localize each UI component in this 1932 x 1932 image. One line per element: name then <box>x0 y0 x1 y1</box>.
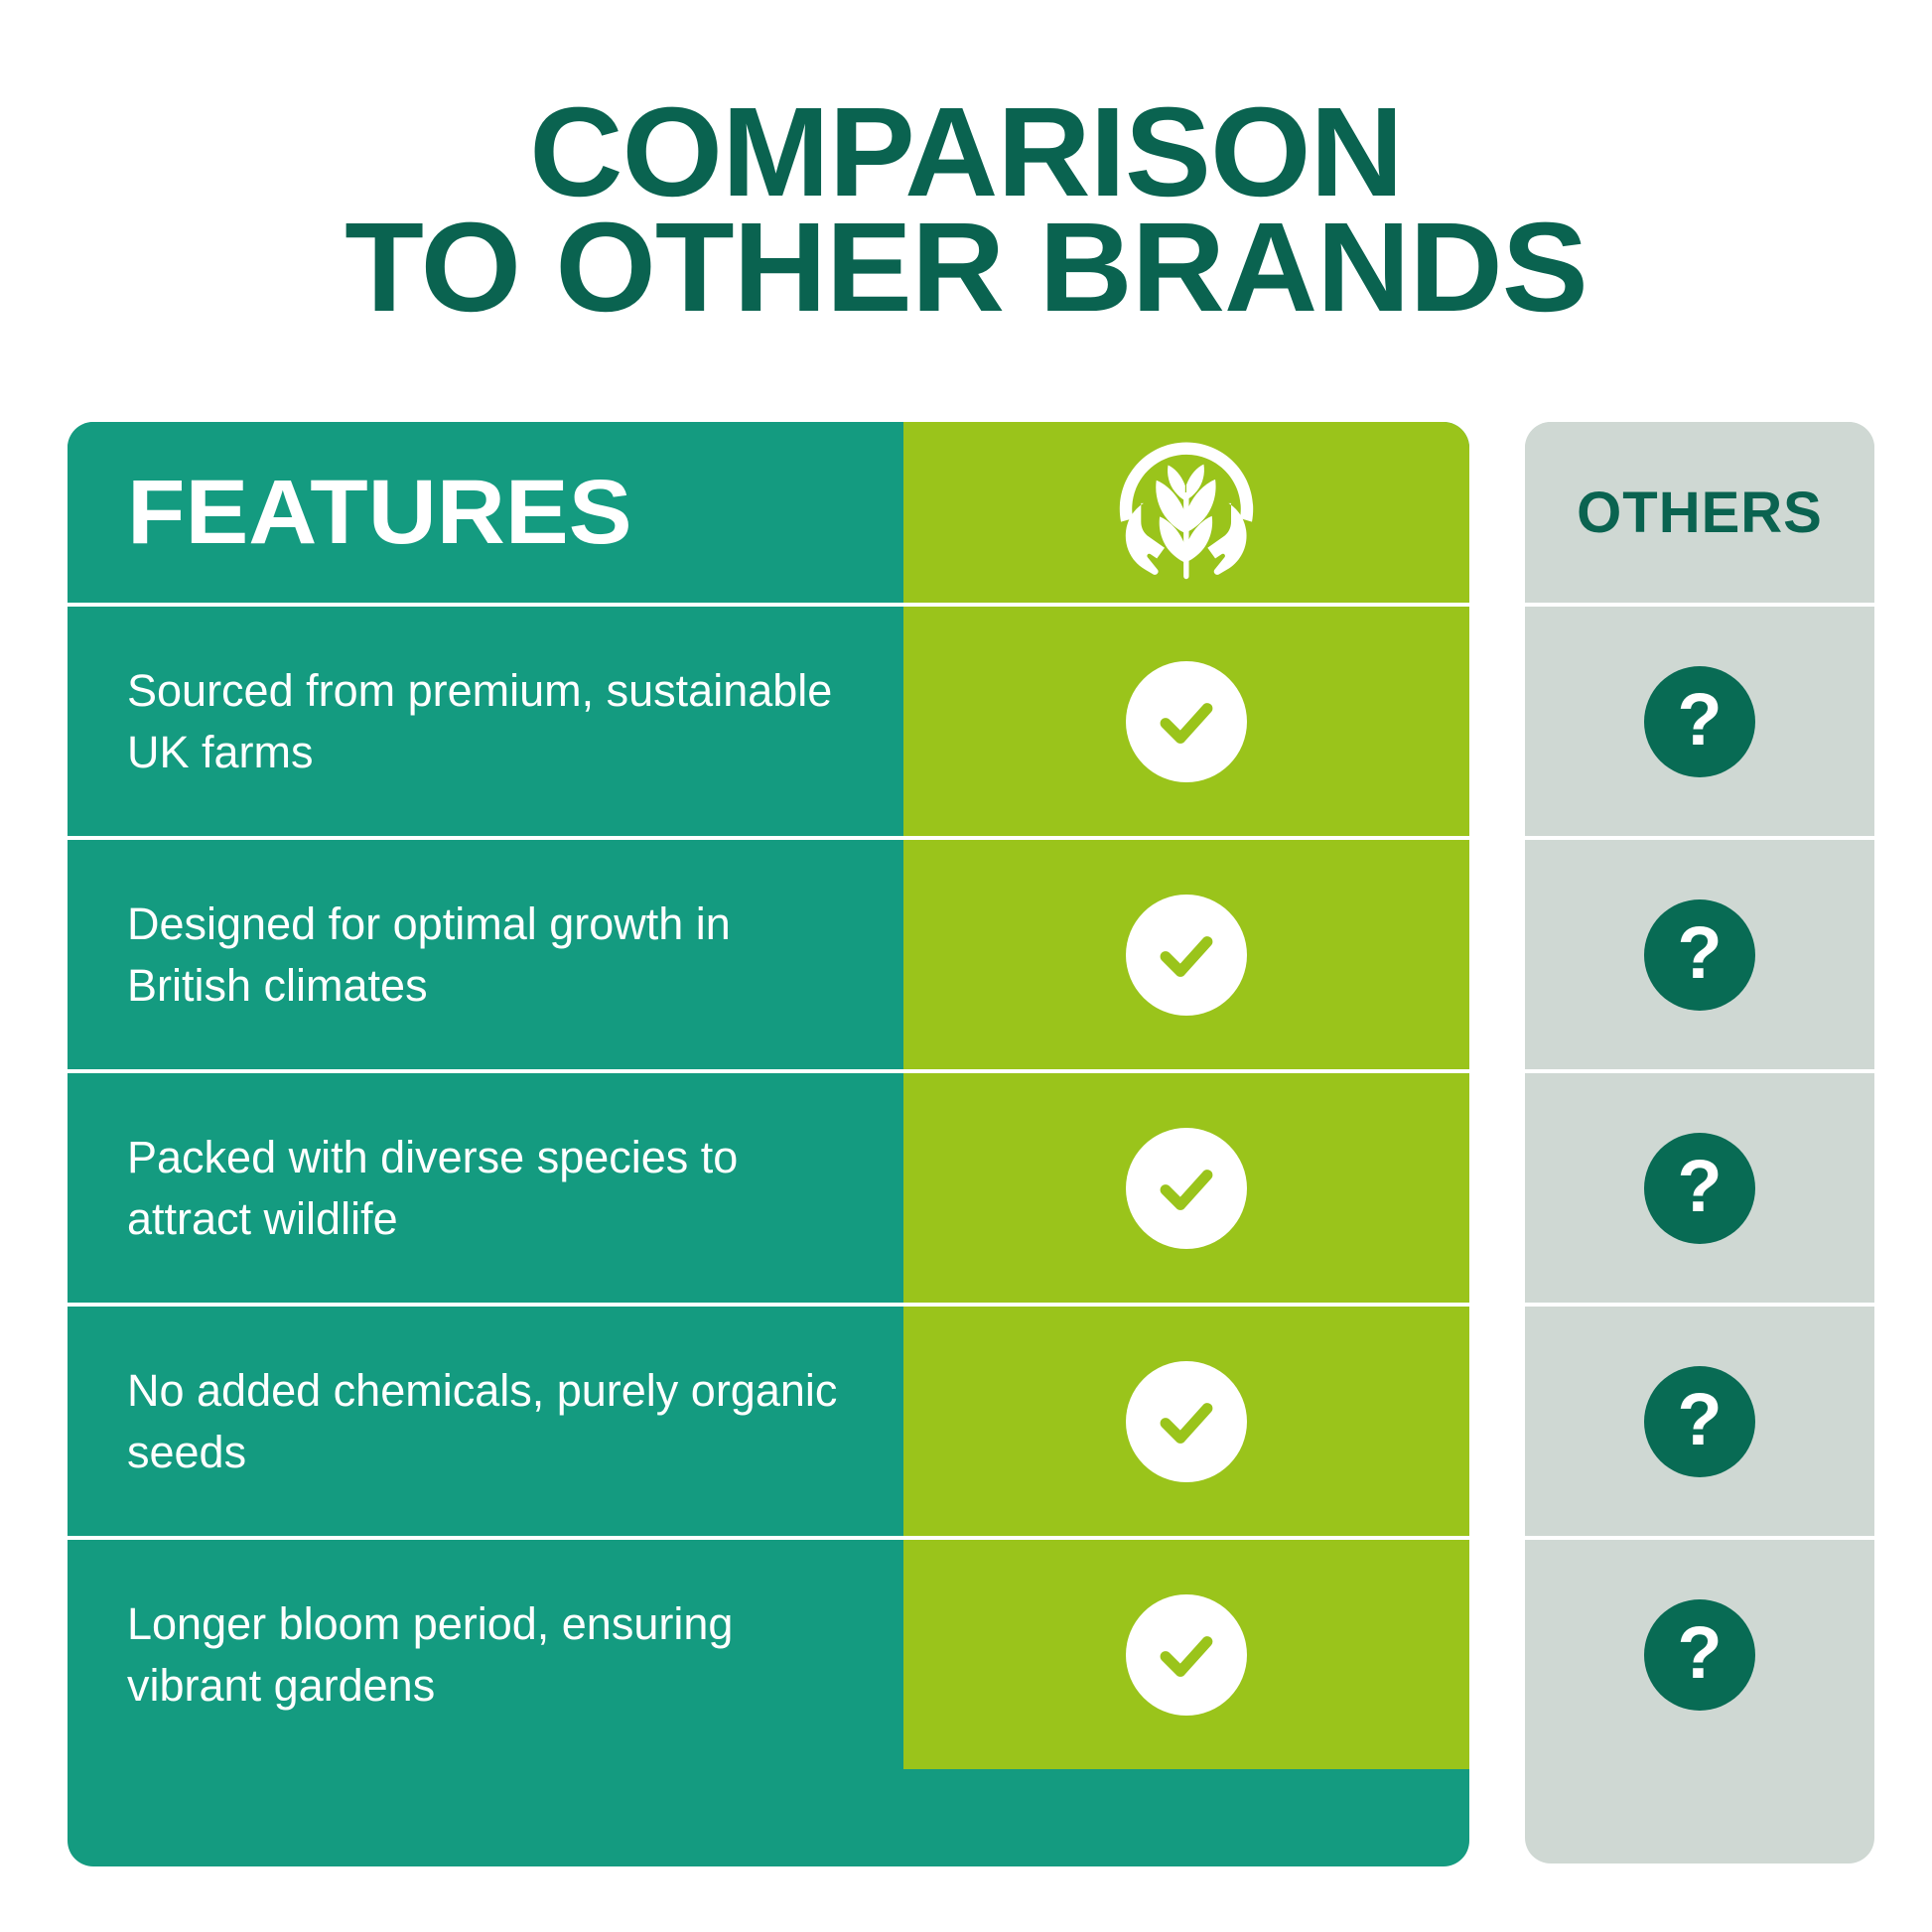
question-mark-glyph: ? <box>1677 1150 1722 1223</box>
check-icon <box>1126 895 1247 1016</box>
check-icon <box>1126 1128 1247 1249</box>
comparison-table: FEATURES Sourced fro <box>68 422 1469 1866</box>
check-glyph <box>1151 1619 1222 1691</box>
check-icon <box>1126 1361 1247 1482</box>
features-header-label: FEATURES <box>127 467 632 558</box>
table-row: Designed for optimal growth in British c… <box>68 836 1469 1069</box>
question-mark-icon: ? <box>1644 666 1755 777</box>
brand-header-cell <box>903 422 1469 603</box>
title-line-1: COMPARISON <box>0 95 1932 210</box>
question-mark-glyph: ? <box>1677 916 1722 990</box>
page-title: COMPARISON TO OTHER BRANDS <box>0 95 1932 326</box>
feature-cell: Packed with diverse species to attract w… <box>68 1073 903 1303</box>
others-header-label: OTHERS <box>1577 480 1823 546</box>
check-glyph <box>1151 686 1222 758</box>
feature-text: Packed with diverse species to attract w… <box>127 1127 844 1250</box>
question-mark-glyph: ? <box>1677 1616 1722 1690</box>
features-header-cell: FEATURES <box>68 422 903 603</box>
plant-in-hands-logo <box>1103 429 1270 596</box>
others-column: OTHERS ? ? ? ? ? <box>1525 422 1874 1863</box>
brand-cell <box>903 840 1469 1069</box>
feature-text: No added chemicals, purely organic seeds <box>127 1360 844 1483</box>
others-header-cell: OTHERS <box>1525 422 1874 603</box>
check-glyph <box>1151 919 1222 991</box>
brand-cell <box>903 1307 1469 1536</box>
table-header-row: FEATURES <box>68 422 1469 603</box>
check-icon <box>1126 661 1247 782</box>
feature-text: Sourced from premium, sustainable UK far… <box>127 660 844 783</box>
feature-cell: Designed for optimal growth in British c… <box>68 840 903 1069</box>
table-row: Packed with diverse species to attract w… <box>68 1069 1469 1303</box>
check-icon <box>1126 1594 1247 1716</box>
feature-text: Longer bloom period, ensuring vibrant ga… <box>127 1593 844 1717</box>
others-cell: ? <box>1525 603 1874 836</box>
feature-cell: No added chemicals, purely organic seeds <box>68 1307 903 1536</box>
infographic-canvas: COMPARISON TO OTHER BRANDS FEATURES <box>0 0 1932 1932</box>
check-glyph <box>1151 1153 1222 1224</box>
table-row: Sourced from premium, sustainable UK far… <box>68 603 1469 836</box>
question-mark-icon: ? <box>1644 1366 1755 1477</box>
brand-cell <box>903 1540 1469 1769</box>
question-mark-glyph: ? <box>1677 1383 1722 1456</box>
check-glyph <box>1151 1386 1222 1457</box>
feature-cell: Sourced from premium, sustainable UK far… <box>68 607 903 836</box>
others-cell: ? <box>1525 836 1874 1069</box>
brand-cell <box>903 607 1469 836</box>
question-mark-icon: ? <box>1644 1133 1755 1244</box>
brand-cell <box>903 1073 1469 1303</box>
question-mark-glyph: ? <box>1677 683 1722 757</box>
feature-text: Designed for optimal growth in British c… <box>127 894 844 1017</box>
table-row: No added chemicals, purely organic seeds <box>68 1303 1469 1536</box>
others-cell: ? <box>1525 1536 1874 1769</box>
question-mark-icon: ? <box>1644 899 1755 1011</box>
others-cell: ? <box>1525 1303 1874 1536</box>
others-cell: ? <box>1525 1069 1874 1303</box>
title-line-2: TO OTHER BRANDS <box>0 210 1932 326</box>
feature-cell: Longer bloom period, ensuring vibrant ga… <box>68 1540 903 1769</box>
question-mark-icon: ? <box>1644 1599 1755 1711</box>
table-row: Longer bloom period, ensuring vibrant ga… <box>68 1536 1469 1769</box>
